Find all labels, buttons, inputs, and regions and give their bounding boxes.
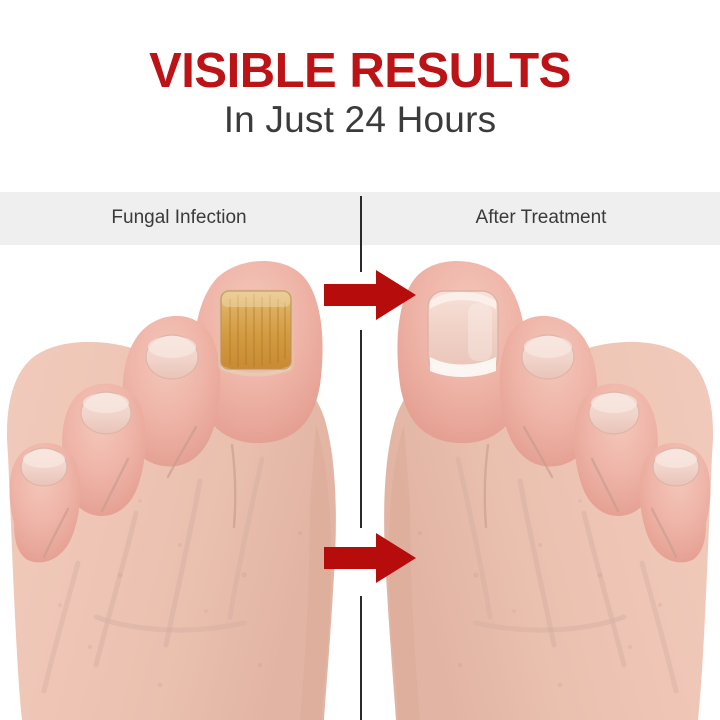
arrow-right-icon-bottom [324,533,416,583]
arrow-right-icon [324,270,416,320]
infected-toenail [218,289,294,377]
arrow-right-icon [324,533,416,583]
center-divider-middle [360,330,362,528]
page-subtitle: In Just 24 Hours [0,98,720,142]
page-title: VISIBLE RESULTS [0,44,720,98]
center-divider-bottom [360,596,362,720]
center-divider-top [360,196,362,272]
before-label: Fungal Infection [0,205,358,231]
before-foot-photo [0,245,360,720]
after-label: After Treatment [362,205,720,231]
header: VISIBLE RESULTS In Just 24 Hours [0,0,720,192]
before-photo-pane [0,245,360,720]
arrow-right-icon-top [324,270,416,320]
healthy-toenail [428,291,498,377]
before-after-promo-image: VISIBLE RESULTS In Just 24 Hours Fungal … [0,0,720,720]
